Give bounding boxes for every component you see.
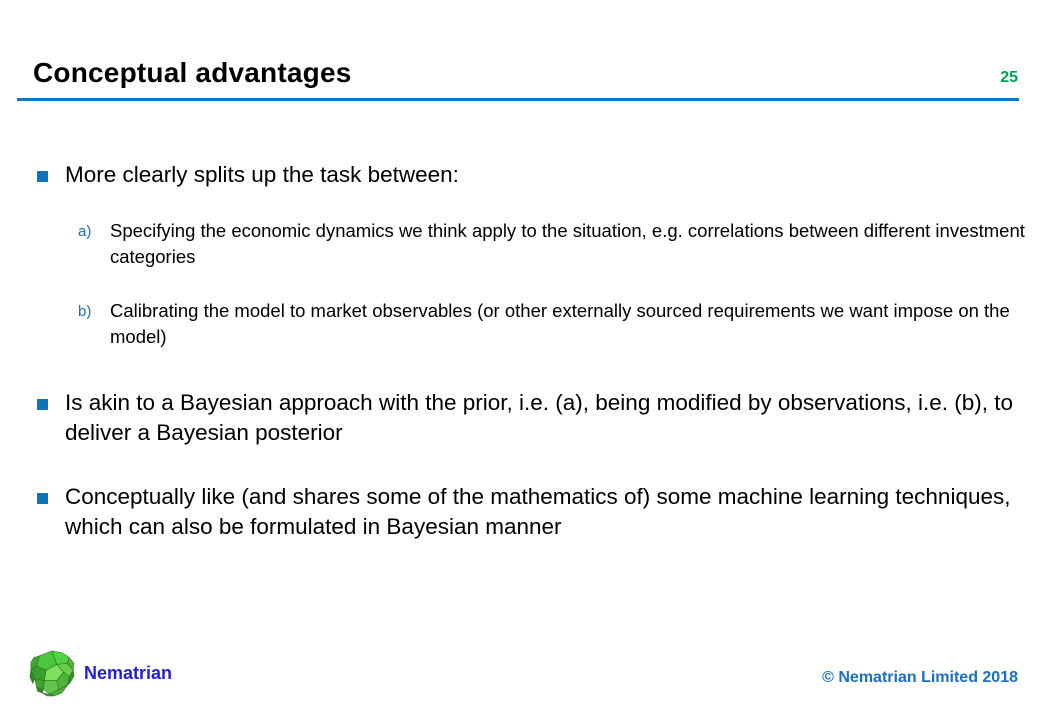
copyright-notice: © Nematrian Limited 2018: [822, 668, 1018, 688]
slide-header: Conceptual advantages 25: [0, 0, 1040, 104]
bullet-item: More clearly splits up the task between:: [0, 160, 1020, 190]
slide: Conceptual advantages 25 More clearly sp…: [0, 0, 1040, 720]
sub-bullet-text: Specifying the economic dynamics we thin…: [110, 218, 1040, 270]
sub-bullet-item-a: a) Specifying the economic dynamics we t…: [0, 218, 1040, 270]
slide-footer: Nematrian © Nematrian Limited 2018: [0, 634, 1040, 720]
sub-bullet-marker: a): [78, 220, 104, 244]
slide-body: More clearly splits up the task between:…: [0, 160, 1040, 542]
page-number: 25: [1000, 68, 1018, 88]
bullet-item: Is akin to a Bayesian approach with the …: [0, 388, 1020, 448]
bullet-text: Is akin to a Bayesian approach with the …: [65, 388, 1020, 448]
sub-bullet-item-b: b) Calibrating the model to market obser…: [0, 298, 1040, 350]
sub-bullet-list: a) Specifying the economic dynamics we t…: [0, 218, 1040, 350]
title-divider: [17, 98, 1019, 101]
square-bullet-icon: [37, 171, 48, 182]
bullet-text: Conceptually like (and shares some of th…: [65, 482, 1020, 542]
bullet-text: More clearly splits up the task between:: [65, 160, 1020, 190]
page-title: Conceptual advantages: [33, 56, 352, 90]
sub-bullet-marker: b): [78, 300, 104, 324]
brand-logo: Nematrian: [28, 648, 172, 698]
brand-name: Nematrian: [84, 662, 172, 684]
sub-bullet-text: Calibrating the model to market observab…: [110, 298, 1040, 350]
square-bullet-icon: [37, 399, 48, 410]
bullet-item: Conceptually like (and shares some of th…: [0, 482, 1020, 542]
square-bullet-icon: [37, 493, 48, 504]
polyhedron-sphere-icon: [28, 648, 76, 698]
